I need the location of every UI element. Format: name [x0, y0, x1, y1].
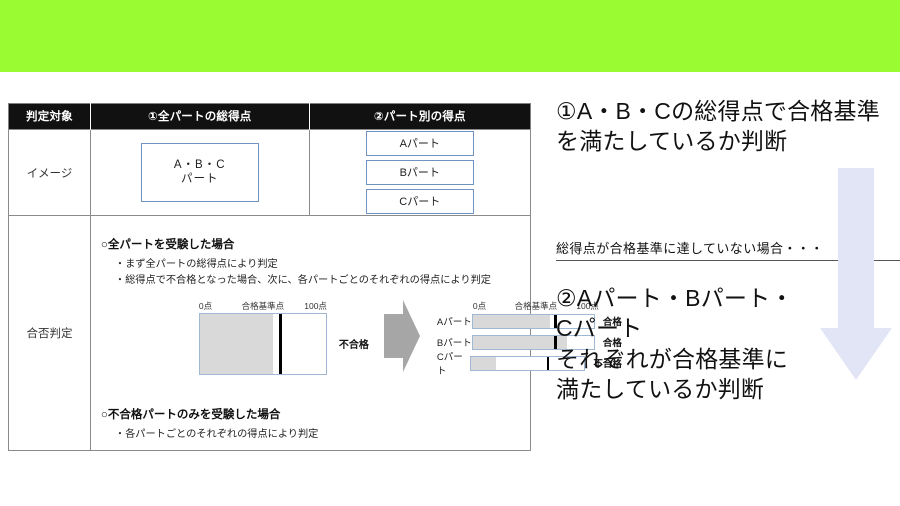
bullet-all-parts-2: ・総得点で不合格となった場合、次に、各パートごとのそれぞれの得点により判定 — [115, 271, 530, 286]
heading-failed-parts-only: ○不合格パートのみを受験した場合 — [101, 406, 530, 422]
total-score-fill — [200, 314, 273, 374]
header-cell-part-score: ②パート別の得点 — [309, 104, 530, 130]
part-bar-a-fill — [473, 315, 550, 328]
total-score-bar-group: 0点 合格基準点 100点 — [199, 300, 327, 375]
total-score-result-label: 不合格 — [339, 336, 369, 351]
part-chip-a: Aパート — [366, 131, 474, 156]
bullet-failed-parts-1: ・各パートごとのそれぞれの得点により判定 — [115, 425, 530, 440]
right-text-block-1: ①A・B・Cの総得点で合格基準を満たしているか判断 — [556, 96, 900, 157]
total-bar-scale: 0点 合格基準点 100点 — [199, 300, 327, 313]
section-failed-parts-only: ○不合格パートのみを受験した場合 ・各パートごとのそれぞれの得点により判定 — [99, 406, 530, 440]
cell-judgement-detail: ○全パートを受験した場合 ・まず全パートの総得点により判定 ・総得点で不合格とな… — [90, 216, 530, 451]
total-scale-threshold: 合格基準点 — [242, 300, 285, 312]
part-bar-name-b: Bパート — [437, 335, 472, 349]
abc-box-line2: パート — [142, 172, 258, 186]
cell-part-score-image: Aパート Bパート Cパート — [309, 130, 530, 216]
part-bar-c-threshold-line — [547, 357, 550, 370]
judgement-criteria-table: 判定対象 ①全パートの総得点 ②パート別の得点 イメージ A・B・C パート A… — [8, 103, 531, 451]
part-chip-stack: Aパート Bパート Cパート — [366, 131, 474, 214]
total-scale-max: 100点 — [304, 300, 327, 312]
header-cell-target: 判定対象 — [9, 104, 91, 130]
table-row-judgement: 合否判定 ○全パートを受験した場合 ・まず全パートの総得点により判定 ・総得点で… — [9, 216, 531, 451]
part-chip-c: Cパート — [366, 189, 474, 214]
green-header-banner — [0, 0, 900, 72]
score-diagram: 0点 合格基準点 100点 不合格 — [99, 292, 530, 396]
heading-all-parts-taken: ○全パートを受験した場合 — [101, 236, 530, 252]
total-score-bar — [199, 313, 327, 375]
part-bar-name-a: Aパート — [437, 314, 472, 328]
total-scale-min: 0点 — [199, 300, 212, 312]
part-chip-b: Bパート — [366, 160, 474, 185]
abc-box-line1: A・B・C — [142, 158, 258, 172]
right-text-1: ①A・B・Cの総得点で合格基準を満たしているか判断 — [556, 96, 900, 157]
abc-total-box: A・B・C パート — [141, 143, 259, 203]
part-scale-threshold: 合格基準点 — [515, 300, 558, 312]
bullet-all-parts-1: ・まず全パートの総得点により判定 — [115, 255, 530, 270]
table-header-row: 判定対象 ①全パートの総得点 ②パート別の得点 — [9, 104, 531, 130]
part-bar-c-fill — [471, 357, 496, 370]
row-label-image: イメージ — [9, 130, 91, 216]
down-arrow-icon — [820, 168, 892, 380]
header-cell-total-score: ①全パートの総得点 — [90, 104, 309, 130]
row-label-judgement: 合否判定 — [9, 216, 91, 451]
table-row-image: イメージ A・B・C パート Aパート Bパート Cパート — [9, 130, 531, 216]
cell-total-score-image: A・B・C パート — [90, 130, 309, 216]
part-bar-name-c: Cパート — [437, 349, 470, 377]
right-arrow-icon — [384, 300, 420, 372]
part-scale-min: 0点 — [473, 300, 486, 312]
total-score-threshold-line — [279, 314, 282, 374]
